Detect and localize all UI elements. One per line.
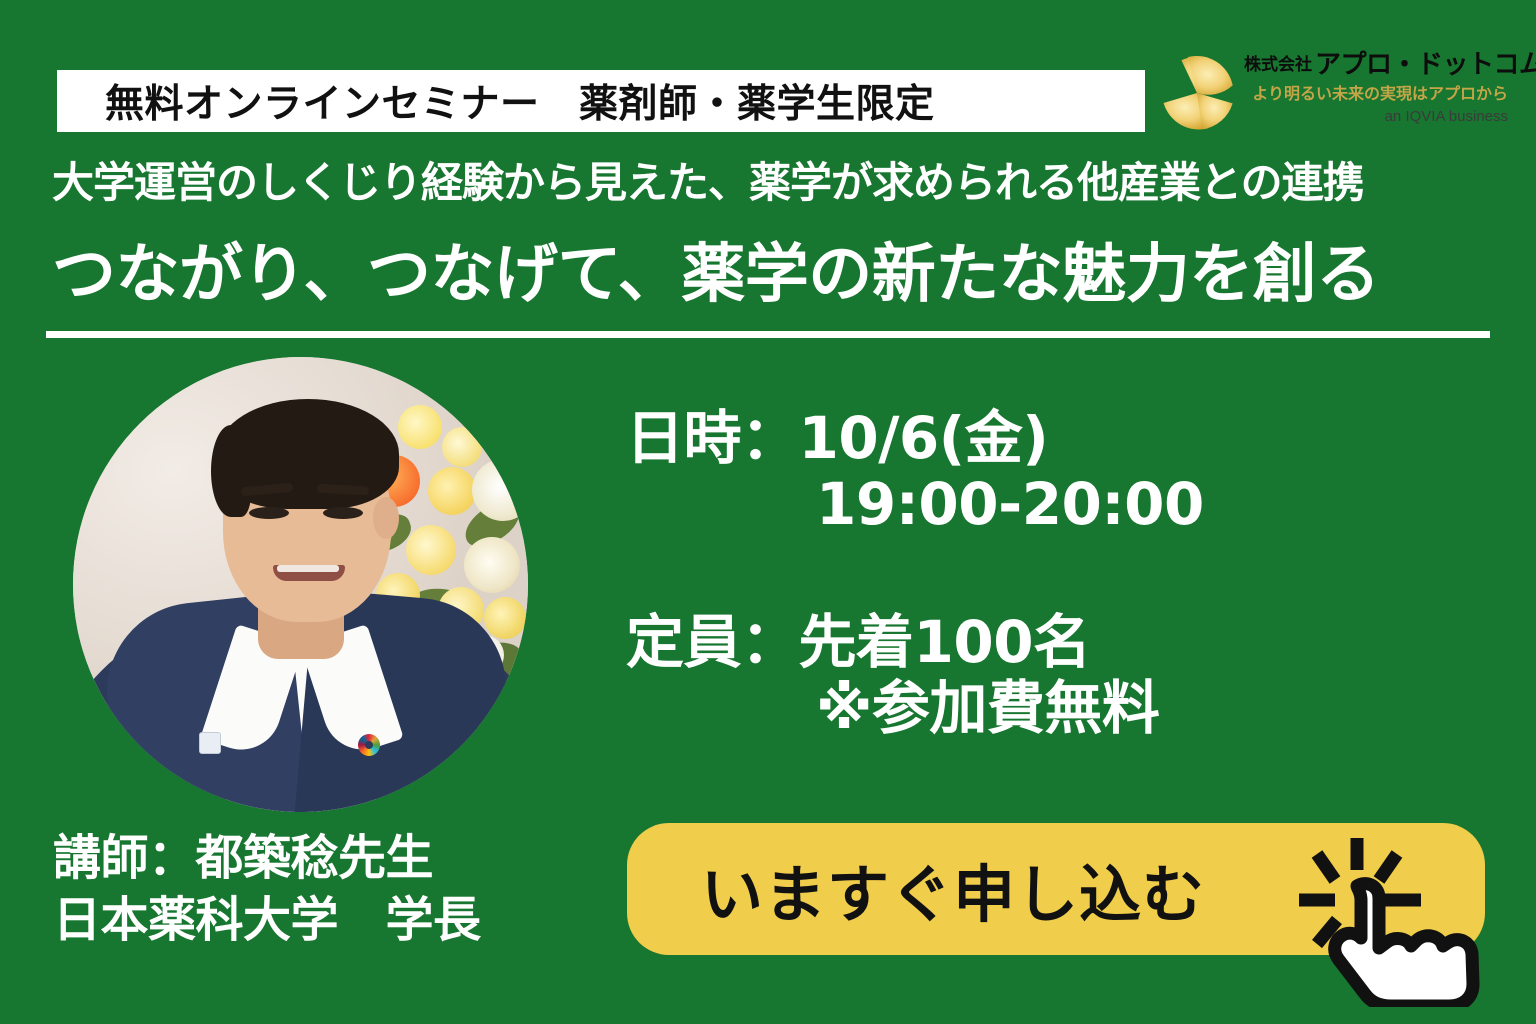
portrait-teeth	[277, 565, 339, 572]
logo-company-name: 株式会社アプロ・ドットコム	[1244, 48, 1508, 82]
event-capacity-block: 定員：先着100名 ※参加費無料	[626, 609, 1446, 741]
event-capacity-label: 定員：先着100名	[626, 609, 1446, 675]
apply-now-label: いますぐ申し込む	[701, 844, 1205, 934]
speaker-credit: 講師：都築稔先生 日本薬科大学 学長	[53, 827, 613, 951]
logo-affiliation: an IQVIA business	[1244, 106, 1508, 128]
portrait-ear	[373, 497, 399, 539]
seminar-poster: 無料オンラインセミナー 薬剤師・薬学生限定	[0, 0, 1536, 1024]
seminar-type-banner: 無料オンラインセミナー 薬剤師・薬学生限定	[57, 70, 1145, 132]
logo-company-prefix: 株式会社	[1244, 55, 1312, 75]
company-logo: 株式会社アプロ・ドットコム より明るい未来の実現はアプロから an IQVIA …	[1158, 48, 1508, 158]
pointing-hand-click-icon	[1295, 822, 1500, 1007]
apuro-swirl-mark-icon	[1158, 54, 1236, 132]
seminar-type-label: 無料オンラインセミナー 薬剤師・薬学生限定	[57, 73, 935, 129]
sdgs-lapel-pin-icon	[358, 734, 380, 756]
portrait-eye-left	[249, 507, 289, 519]
horizontal-divider	[46, 331, 1490, 338]
event-details: 日時：10/6(金) 19:00-20:00 定員：先着100名 ※参加費無料	[626, 405, 1446, 741]
logo-tagline: より明るい未来の実現はアプロから	[1244, 82, 1508, 106]
portrait-eye-right	[323, 507, 363, 519]
seminar-subtitle: 大学運営のしくじり経験から見えた、薬学が求められる他産業との連携	[52, 158, 1492, 208]
event-capacity-note: ※参加費無料	[626, 675, 1446, 741]
logo-text-block: 株式会社アプロ・ドットコム より明るい未来の実現はアプロから an IQVIA …	[1244, 48, 1508, 128]
event-datetime-time: 19:00-20:00	[626, 471, 1446, 537]
portrait-hair-side	[211, 425, 251, 517]
speaker-name: 講師：都築稔先生	[53, 827, 613, 889]
event-datetime-label: 日時：10/6(金)	[626, 405, 1446, 471]
logo-company-main: アプロ・ドットコム	[1315, 50, 1536, 80]
speaker-affiliation: 日本薬科大学 学長	[53, 889, 613, 951]
speaker-portrait-photo	[73, 357, 528, 812]
square-lapel-pin-icon	[199, 732, 221, 754]
seminar-title: つながり、つなげて、薬学の新たな魅力を創る	[52, 236, 1492, 314]
